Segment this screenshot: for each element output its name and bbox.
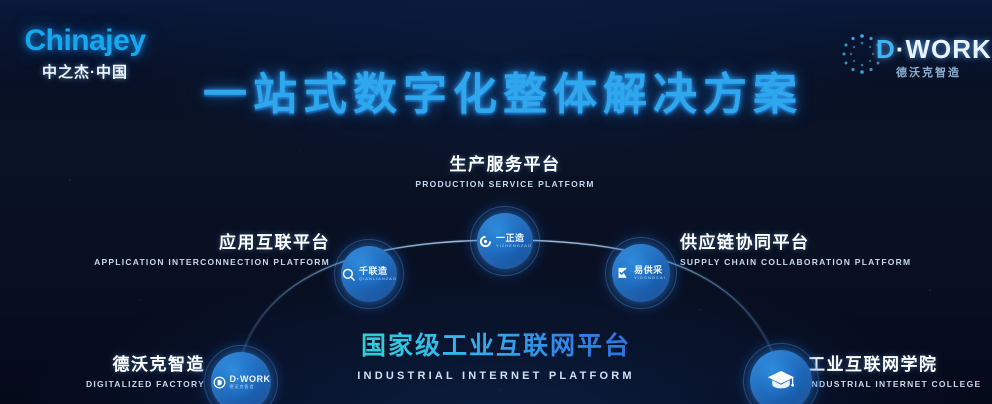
- node-production-service-platform[interactable]: 一正造 YIZHENGZAO: [477, 213, 533, 269]
- center-caption-en: INDUSTRIAL INTERNET PLATFORM: [296, 370, 696, 382]
- node-logo-text: 千联造 QIANLIANZAO: [359, 267, 397, 281]
- label-supply-chain-collaboration-platform: 供应链协同平台 SUPPLY CHAIN COLLABORATION PLATF…: [680, 228, 990, 267]
- page-title: 一站式数字化整体解决方案: [178, 58, 828, 122]
- brand-name-en: Chinajey: [10, 26, 160, 56]
- label-en: PRODUCTION SERVICE PLATFORM: [385, 179, 625, 189]
- label-production-service-platform: 生产服务平台 PRODUCTION SERVICE PLATFORM: [385, 150, 625, 189]
- node-logo-en: YIZHENGZAO: [496, 244, 532, 248]
- node-supply-chain-collaboration-platform[interactable]: 易供采 YIGONGCAI: [612, 244, 670, 302]
- label-cn: 应用互联平台: [20, 228, 330, 253]
- solution-diagram: 生产服务平台 PRODUCTION SERVICE PLATFORM 一正造 Y…: [0, 128, 992, 404]
- node-logo-text: D·WORK 德沃克智造: [230, 375, 271, 389]
- label-digitalized-factory: 德沃克智造 DIGITALIZED FACTORY: [0, 350, 205, 389]
- node-logo-cn: 易供采: [634, 266, 666, 275]
- label-cn: 生产服务平台: [385, 150, 625, 175]
- node-logo-cn: D·WORK: [230, 375, 271, 384]
- node-logo-cn: 一正造: [496, 234, 532, 243]
- dwork-wordmark: D·WORK: [876, 36, 992, 62]
- label-cn: 德沃克智造: [0, 350, 205, 375]
- slide-header: Chinajey 中之杰·中国 一站式数字化整体解决方案: [0, 0, 992, 128]
- node-logo-en: QIANLIANZAO: [359, 277, 397, 281]
- label-en: SUPPLY CHAIN COLLABORATION PLATFORM: [680, 257, 990, 267]
- label-en: INDUSTRIAL INTERNET COLLEGE: [808, 379, 992, 389]
- label-cn: 供应链协同平台: [680, 228, 990, 253]
- node-digitalized-factory[interactable]: D·WORK 德沃克智造: [211, 352, 271, 404]
- node-logo-en: YIGONGCAI: [634, 276, 666, 280]
- center-caption: 国家级工业互联网平台 INDUSTRIAL INTERNET PLATFORM: [296, 326, 696, 382]
- node-logo: 易供采 YIGONGCAI: [616, 266, 666, 281]
- brand-name-cn: 中之杰·中国: [10, 61, 160, 82]
- node-logo-text: 一正造 YIZHENGZAO: [496, 234, 532, 248]
- label-en: DIGITALIZED FACTORY: [0, 379, 205, 389]
- dwork-letter-d: D: [876, 34, 896, 64]
- label-industrial-internet-college: 工业互联网学院 INDUSTRIAL INTERNET COLLEGE: [808, 350, 992, 389]
- gear-icon: [478, 234, 493, 249]
- slide-canvas: Chinajey 中之杰·中国 一站式数字化整体解决方案: [0, 0, 992, 404]
- center-caption-cn: 国家级工业互联网平台: [296, 326, 696, 362]
- node-logo-text: 易供采 YIGONGCAI: [634, 266, 666, 280]
- node-logo: 千联造 QIANLIANZAO: [341, 267, 397, 282]
- dwork-icon: [212, 375, 227, 390]
- node-industrial-internet-college[interactable]: [750, 350, 812, 404]
- node-application-interconnection-platform[interactable]: 千联造 QIANLIANZAO: [341, 246, 397, 302]
- node-logo-cn: 千联造: [359, 267, 397, 276]
- dwork-subtitle-cn: 德沃克智造: [896, 64, 961, 80]
- dwork-partner-logo: D·WORK 德沃克智造: [836, 22, 986, 88]
- q-circle-icon: [341, 267, 356, 282]
- node-logo: 一正造 YIZHENGZAO: [478, 234, 532, 249]
- label-en: APPLICATION INTERCONNECTION PLATFORM: [20, 257, 330, 267]
- node-logo-en: 德沃克智造: [230, 385, 271, 389]
- label-cn: 工业互联网学院: [808, 350, 992, 375]
- graduation-cap-icon: [766, 366, 796, 396]
- dwork-wordmark-suffix: ·WORK: [896, 34, 992, 64]
- check-flag-icon: [616, 266, 631, 281]
- label-application-interconnection-platform: 应用互联平台 APPLICATION INTERCONNECTION PLATF…: [20, 228, 330, 267]
- node-logo: D·WORK 德沃克智造: [212, 375, 271, 390]
- chinajey-logo: Chinajey 中之杰·中国: [10, 26, 160, 82]
